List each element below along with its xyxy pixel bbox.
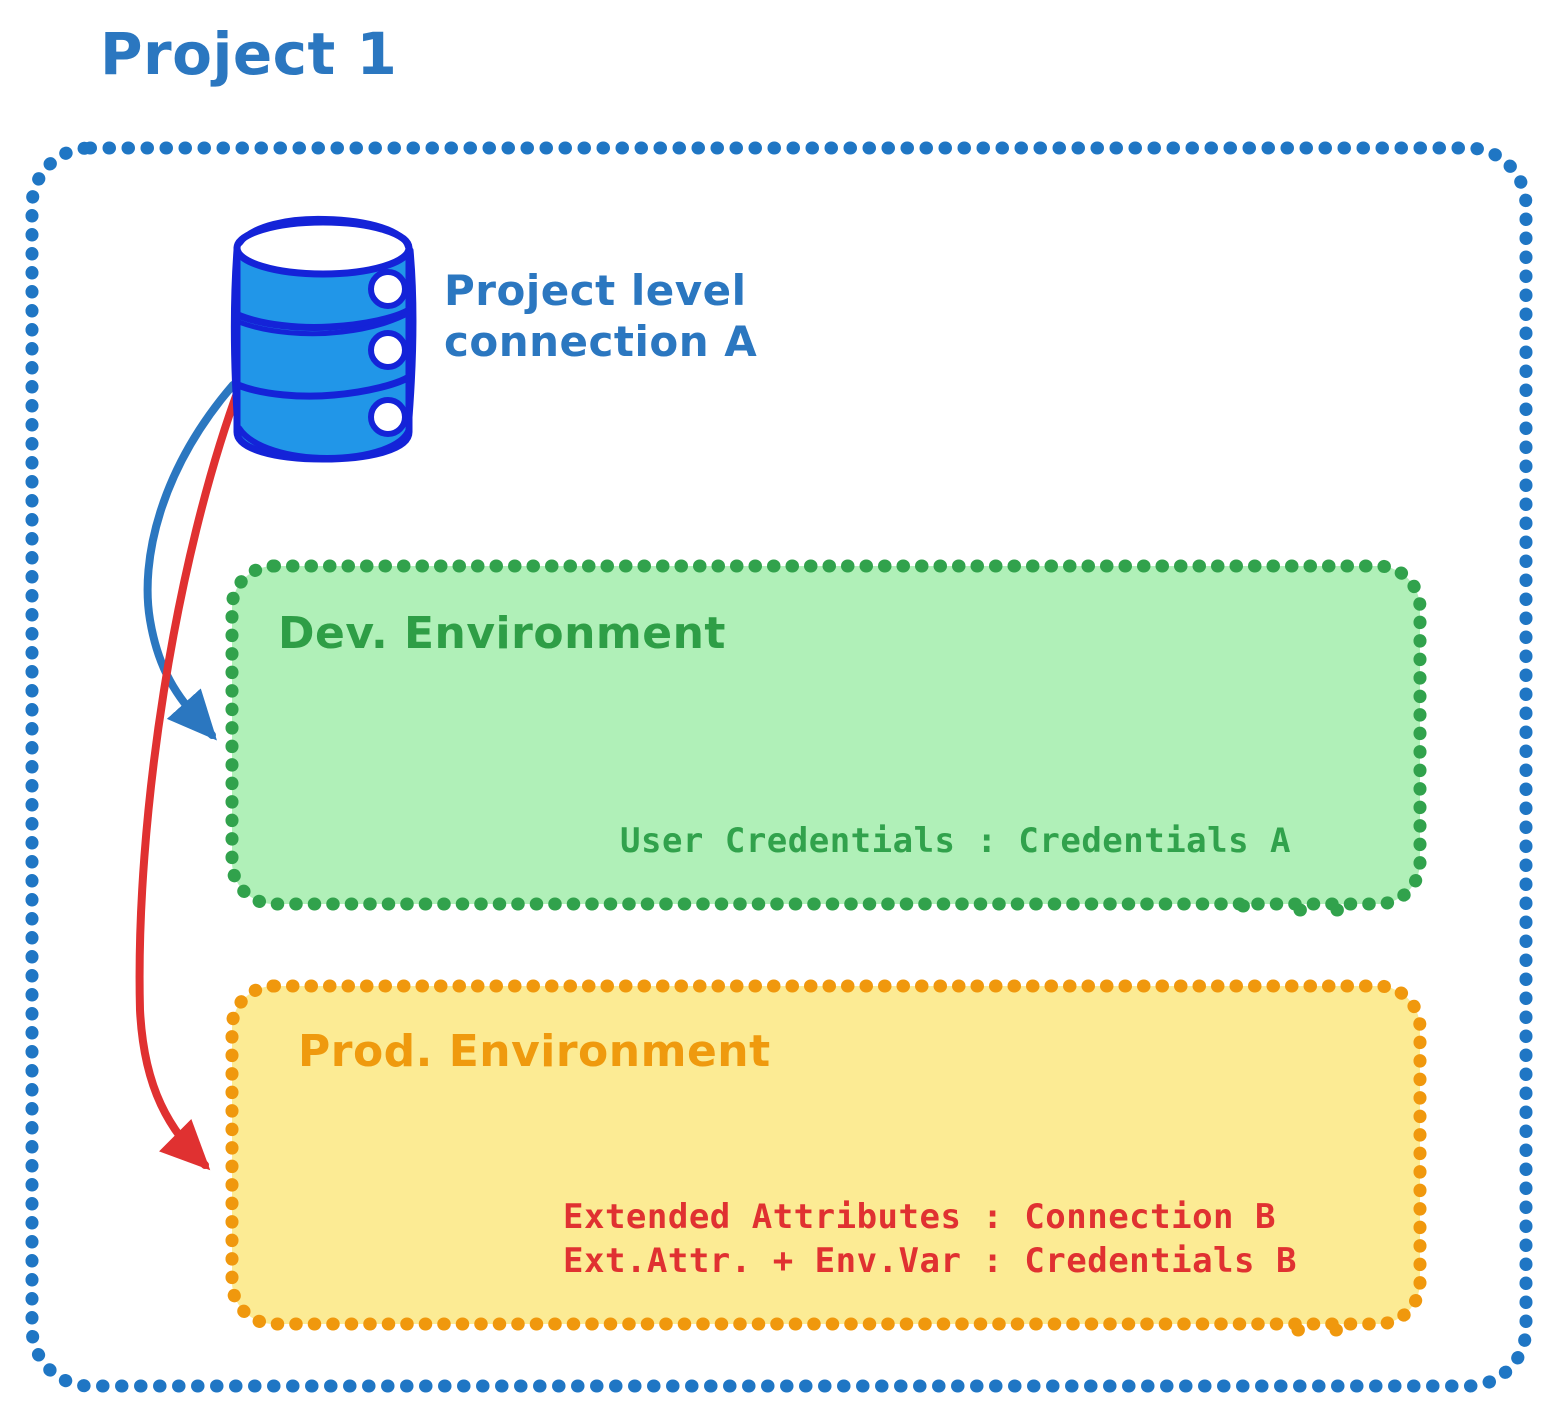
database-cylinder-icon[interactable]: [233, 219, 413, 459]
prod-environment-details: Extended Attributes : Connection BExt.At…: [563, 1196, 1297, 1283]
prod-environment-title: Prod. Environment: [298, 1030, 771, 1074]
database-label: Project levelconnection A: [444, 265, 757, 367]
dev-environment-details: User Credentials : Credentials A: [620, 820, 1291, 864]
arrow-to-prod: [140, 385, 240, 1165]
prod-detail-line-2: Ext.Attr. + Env.Var : Credentials B: [563, 1240, 1297, 1284]
database-status-lights: [371, 272, 405, 434]
dev-environment-title: Dev. Environment: [278, 612, 726, 656]
prod-detail-line-1: Extended Attributes : Connection B: [563, 1196, 1297, 1240]
diagram-canvas: Project 1 Project levelconnection A Dev.…: [0, 0, 1553, 1415]
database-label-line-1: Project level: [444, 265, 757, 316]
dev-detail-line: User Credentials : Credentials A: [620, 820, 1291, 864]
database-label-line-2: connection A: [444, 316, 757, 367]
page-title: Project 1: [100, 24, 397, 85]
